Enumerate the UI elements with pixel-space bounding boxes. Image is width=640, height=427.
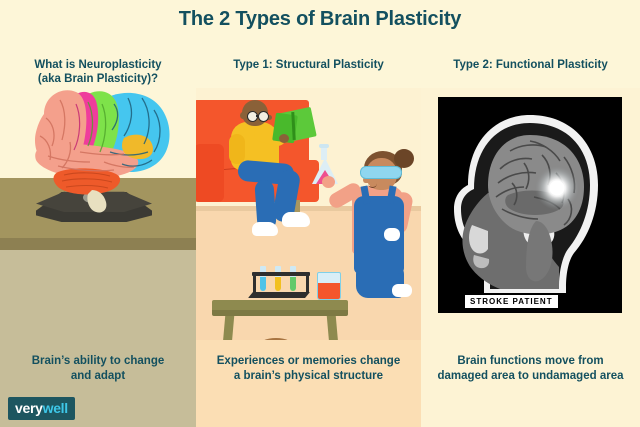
caption-text: Brain’s ability to change and adapt [23, 354, 173, 384]
test-tube-yellow [275, 266, 281, 291]
mri-scan-image: STROKE PATIENT [438, 97, 622, 313]
couch-arm-left [196, 144, 224, 202]
woman-hand-left [322, 176, 335, 188]
coffee-table-lip [212, 310, 348, 316]
stroke-patient-label: STROKE PATIENT [465, 295, 558, 308]
rack-post-left [253, 274, 256, 293]
column-heading-line-1: What is Neuroplasticity [0, 58, 196, 72]
glasses-bridge [256, 115, 259, 117]
mri-brain-scan-icon [438, 97, 622, 313]
man-hand [279, 134, 289, 143]
page-title: The 2 Types of Brain Plasticity [0, 8, 640, 31]
logo-word-well: well [43, 400, 68, 416]
caption-functional: Brain functions move from damaged area t… [421, 340, 640, 427]
column-heading-structural: Type 1: Structural Plasticity [196, 58, 421, 72]
man-shoe-front [282, 212, 310, 227]
beaker-liquid [318, 283, 340, 299]
brain-model-illustration [14, 88, 184, 214]
man-ear [240, 112, 246, 119]
column-heading-line-2: (aka Brain Plasticity)? [0, 72, 196, 86]
rack-post-right [306, 274, 309, 293]
flask-lip [319, 144, 329, 148]
logo-word-very: very [15, 400, 43, 416]
test-tube-fill [260, 277, 266, 291]
verywell-logo: verywell [8, 397, 75, 420]
caption-structural: Experiences or memories change a brain’s… [196, 340, 421, 427]
table-edge [0, 238, 196, 250]
caption-text: Experiences or memories change a brain’s… [216, 354, 402, 384]
test-tube-rack-base [248, 292, 310, 298]
infographic-canvas: The 2 Types of Brain Plasticity What is … [0, 0, 640, 427]
test-tube-green [290, 266, 296, 291]
column-heading-neuroplasticity: What is Neuroplasticity (aka Brain Plast… [0, 58, 196, 86]
test-tube-rack-top [252, 272, 310, 276]
glasses-lens-right [258, 111, 269, 122]
man-sleeve-left [229, 134, 245, 164]
caption-text: Brain functions move from damaged area t… [438, 354, 624, 384]
test-tube-fill [290, 277, 296, 291]
brain-icon [14, 88, 184, 214]
safety-goggles-icon [360, 166, 402, 179]
man-shoe-back [252, 222, 278, 236]
beaker-icon [317, 272, 341, 300]
column-heading-functional: Type 2: Functional Plasticity [421, 58, 640, 72]
woman-hand-right [384, 228, 400, 241]
test-tube-fill [275, 277, 281, 291]
test-tube-blue [260, 266, 266, 291]
woman-foot [392, 284, 412, 297]
